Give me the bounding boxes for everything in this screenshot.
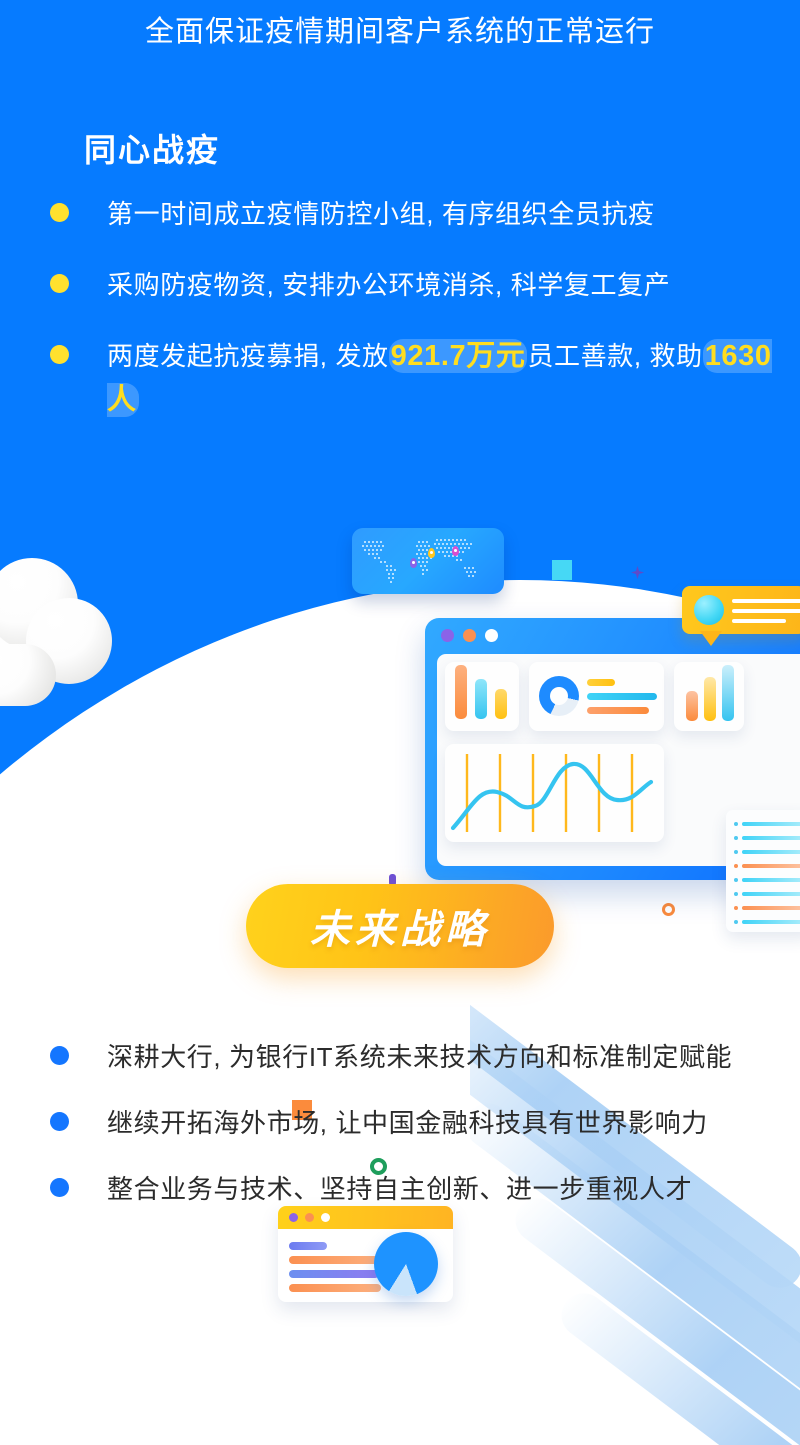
list-bullet	[734, 822, 738, 826]
map-pin-2	[452, 546, 459, 556]
avatar	[694, 595, 724, 625]
bar-chart-card	[445, 662, 519, 731]
bullet-dot	[50, 1046, 69, 1065]
list-item-label: 采购防疫物资, 安排办公环境消杀, 科学复工复产	[107, 263, 670, 307]
list-bullet	[734, 864, 738, 868]
list-item: 第一时间成立疫情防控小组, 有序组织全员抗疫	[50, 192, 780, 236]
list-item-label: 继续开拓海外市场, 让中国金融科技具有世界影响力	[107, 1101, 708, 1145]
list-line	[742, 836, 800, 840]
donation-amount: 921.7万元	[389, 339, 528, 373]
line-chart-card	[445, 744, 664, 842]
list-item-label: 两度发起抗疫募捐, 发放921.7万元员工善款, 救助1630人	[107, 334, 780, 422]
kpi-line	[587, 679, 615, 686]
bar	[722, 665, 734, 721]
bar	[495, 689, 507, 719]
future-strategy-label: 未来战略	[310, 897, 490, 955]
list-bullet	[734, 850, 738, 854]
bar	[704, 677, 716, 721]
list-item: 两度发起抗疫募捐, 发放921.7万元员工善款, 救助1630人	[50, 334, 780, 422]
list-item: 深耕大行, 为银行IT系统未来技术方向和标准制定赋能	[50, 1035, 780, 1079]
map-pin-1	[428, 548, 435, 558]
chat-bubble[interactable]	[682, 586, 800, 634]
bullet-dot	[50, 1178, 69, 1197]
donut-chart-card	[529, 662, 664, 731]
window-dot-orange	[463, 629, 476, 642]
bar-chart-card-right	[674, 662, 744, 731]
donation-text-mid: 员工善款, 救助	[527, 341, 702, 371]
map-pin-3	[410, 558, 417, 568]
future-strategy-list: 深耕大行, 为银行IT系统未来技术方向和标准制定赋能 继续开拓海外市场, 让中国…	[50, 1035, 780, 1233]
pie-chart	[374, 1232, 438, 1296]
future-strategy-button[interactable]: 未来战略	[246, 884, 554, 968]
list-item-label: 第一时间成立疫情防控小组, 有序组织全员抗疫	[107, 192, 655, 236]
plus-decoration-icon	[552, 560, 572, 580]
bubble-line	[732, 599, 800, 603]
bullet-dot	[50, 345, 69, 364]
list-item: 采购防疫物资, 安排办公环境消杀, 科学复工复产	[50, 263, 780, 307]
content-line	[289, 1284, 381, 1292]
list-bullet	[734, 878, 738, 882]
list-bullet	[734, 920, 738, 924]
kpi-line	[587, 707, 649, 714]
world-map-card	[352, 528, 504, 594]
list-bullet	[734, 892, 738, 896]
list-line	[742, 920, 800, 924]
bubble-line	[732, 609, 800, 613]
content-line	[289, 1256, 385, 1264]
list-line	[742, 822, 800, 826]
list-line	[742, 850, 800, 854]
content-line	[289, 1242, 327, 1250]
list-bullet	[734, 836, 738, 840]
kpi-line	[587, 693, 657, 700]
cloud-3d-icon	[0, 552, 142, 692]
line-chart	[445, 744, 664, 842]
list-line	[742, 892, 800, 896]
page-headline: 全面保证疫情期间客户系统的正常运行	[0, 8, 800, 50]
window-dot-white	[485, 629, 498, 642]
bullet-dot	[50, 203, 69, 222]
document-list	[726, 810, 800, 932]
list-line	[742, 878, 800, 882]
list-item: 整合业务与技术、坚持自主创新、进一步重视人才	[50, 1167, 780, 1211]
content-line	[289, 1270, 379, 1278]
section-title-one: 同心战疫	[84, 125, 220, 171]
diamond-decoration-icon	[631, 566, 644, 579]
list-line	[742, 906, 800, 910]
window-dot-purple	[441, 629, 454, 642]
bubble-tail-icon	[700, 631, 722, 646]
donation-text-pre: 两度发起抗疫募捐, 发放	[107, 341, 389, 371]
world-map-icon	[356, 534, 502, 590]
bubble-line	[732, 619, 786, 623]
list-item: 继续开拓海外市场, 让中国金融科技具有世界影响力	[50, 1101, 780, 1145]
bar	[455, 665, 467, 719]
bar	[475, 679, 487, 719]
list-item-label: 整合业务与技术、坚持自主创新、进一步重视人才	[107, 1167, 692, 1211]
list-bullet	[734, 906, 738, 910]
list-line	[742, 864, 800, 868]
bar	[686, 691, 698, 721]
donut-hole	[550, 687, 568, 705]
bullet-dot	[50, 1112, 69, 1131]
list-item-label: 深耕大行, 为银行IT系统未来技术方向和标准制定赋能	[107, 1035, 732, 1079]
bullet-dot	[50, 274, 69, 293]
covid-response-list: 第一时间成立疫情防控小组, 有序组织全员抗疫 采购防疫物资, 安排办公环境消杀,…	[50, 192, 780, 449]
data-dashboard-illustration	[0, 500, 800, 940]
ring-decoration-icon	[662, 903, 675, 916]
